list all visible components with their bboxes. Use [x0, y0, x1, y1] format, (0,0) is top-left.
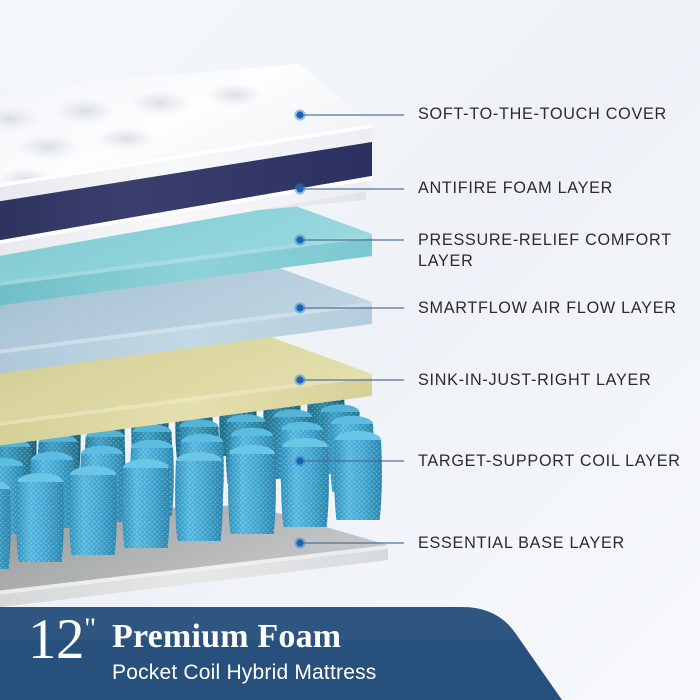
callout-label-essential-base-layer: ESSENTIAL BASE LAYER: [418, 533, 625, 554]
infographic-canvas: SOFT-TO-THE-TOUCH COVER ANTIFIRE FOAM LA…: [0, 0, 700, 700]
callout-label-sink-in-just-right-layer: SINK-IN-JUST-RIGHT LAYER: [418, 370, 651, 391]
callout-label-antifire-foam-layer: ANTIFIRE FOAM LAYER: [418, 178, 613, 199]
callout-label-target-support-coil-layer: TARGET-SUPPORT COIL LAYER: [418, 451, 681, 472]
callout-label-soft-to-the-touch-cover: SOFT-TO-THE-TOUCH COVER: [418, 104, 667, 125]
callout-label-smartflow-air-flow-layer: SMARTFLOW AIR FLOW LAYER: [418, 298, 677, 319]
callout-label-pressure-relief-comfort-layer: PRESSURE-RELIEF COMFORT LAYER: [418, 230, 672, 272]
